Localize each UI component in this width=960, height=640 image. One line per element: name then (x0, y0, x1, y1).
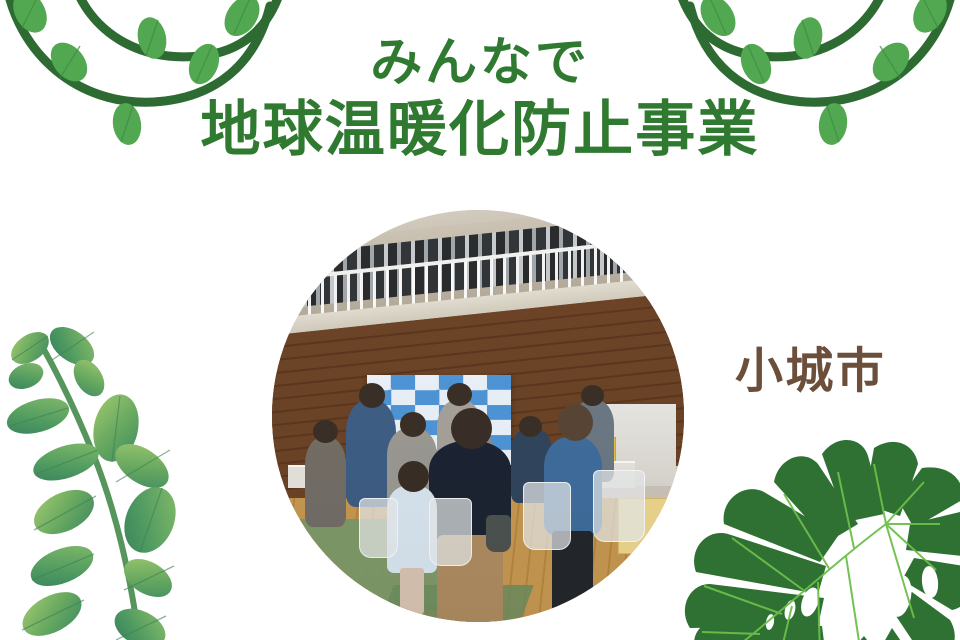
poster-title-line1: みんなで (0, 34, 960, 92)
photo-tone-overlay (272, 210, 684, 622)
event-photo-scene (272, 210, 684, 622)
poster-canvas: みんなで 地球温暖化防止事業 (0, 0, 960, 640)
branch-bottom-left-icon (0, 316, 230, 640)
poster-title-line2: 地球温暖化防止事業 (0, 96, 960, 164)
city-name: 小城市 (735, 331, 886, 401)
event-photo (272, 210, 684, 622)
poster-title: みんなで 地球温暖化防止事業 (0, 34, 960, 165)
monstera-bottom-right-icon (678, 420, 960, 640)
